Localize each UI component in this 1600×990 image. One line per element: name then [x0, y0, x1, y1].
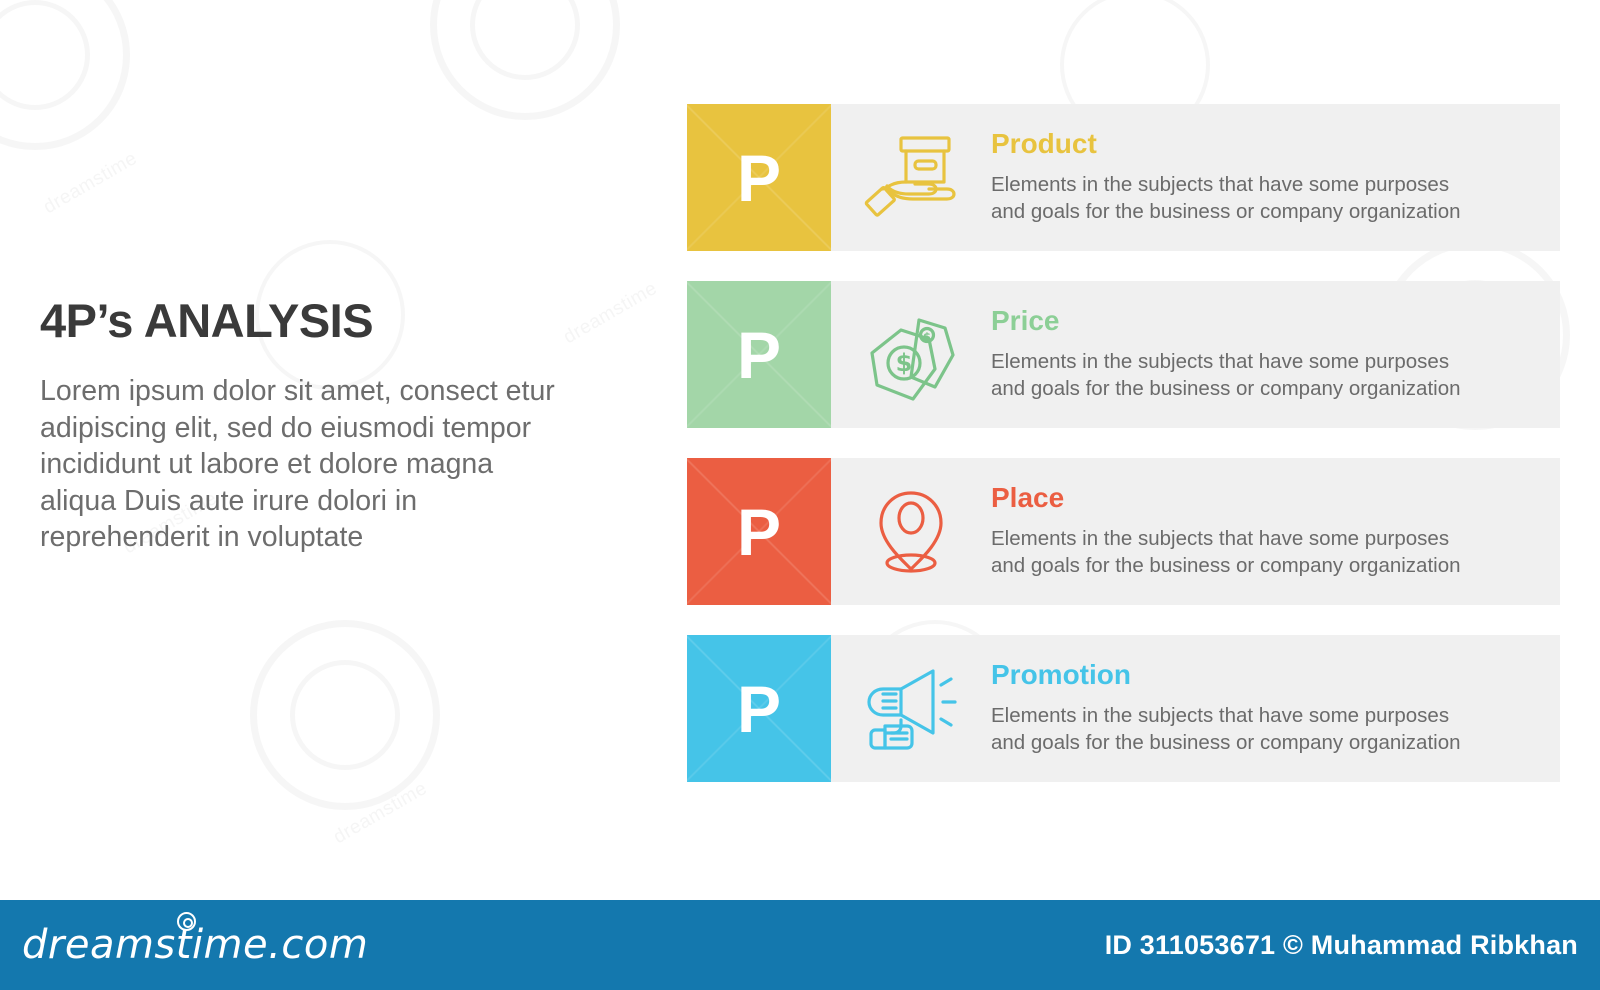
badge-product: P [687, 104, 831, 251]
intro-block: 4P’s ANALYSIS Lorem ipsum dolor sit amet… [40, 296, 600, 556]
badge-letter: P [737, 676, 781, 742]
badge-letter: P [737, 499, 781, 565]
watermark-ring [290, 660, 400, 770]
image-credit: ID 311053671 © Muhammad Ribkhan [1105, 930, 1578, 961]
watermark-ring [250, 620, 440, 810]
dreamstime-logo-text: dreamstime.com [22, 922, 368, 968]
spiral-icon [177, 912, 196, 931]
page-description: Lorem ipsum dolor sit amet, consect etur… [40, 373, 565, 555]
text-place: Place Elements in the subjects that have… [991, 458, 1560, 605]
list-item-promotion[interactable]: P P [687, 635, 1560, 782]
watermark-ring [0, 0, 130, 150]
infographic-canvas: dreamstime dreamstime dreamstime dreamst… [0, 0, 1600, 990]
list-item-place[interactable]: P Place Elements in the subjects that ha… [687, 458, 1560, 605]
row-title-promotion: Promotion [991, 660, 1536, 691]
row-description-price: Elements in the subjects that have some … [991, 348, 1536, 403]
watermark-text: dreamstime [40, 148, 141, 219]
location-pin-icon [831, 458, 991, 605]
badge-price: P [687, 281, 831, 428]
four-p-list: P Product Elements in the subjects that … [687, 104, 1560, 782]
row-title-price: Price [991, 306, 1536, 337]
text-promotion: Promotion Elements in the subjects that … [991, 635, 1560, 782]
row-description-promotion: Elements in the subjects that have some … [991, 702, 1536, 757]
hand-holding-box-icon [831, 104, 991, 251]
badge-letter: P [737, 322, 781, 388]
row-description-place: Elements in the subjects that have some … [991, 525, 1536, 580]
row-title-place: Place [991, 483, 1536, 514]
row-description-product: Elements in the subjects that have some … [991, 171, 1536, 226]
badge-letter: P [737, 145, 781, 211]
text-price: Price Elements in the subjects that have… [991, 281, 1560, 428]
badge-promotion: P [687, 635, 831, 782]
megaphone-hand-icon [831, 635, 991, 782]
dreamstime-logo: dreamstime.com [22, 925, 368, 965]
price-tags-icon: $ $ [831, 281, 991, 428]
text-product: Product Elements in the subjects that ha… [991, 104, 1560, 251]
list-item-price[interactable]: P $ $ Price Elements in the subjects tha… [687, 281, 1560, 428]
page-title: 4P’s ANALYSIS [40, 296, 600, 345]
row-title-product: Product [991, 129, 1536, 160]
badge-place: P [687, 458, 831, 605]
watermark-ring [0, 0, 90, 110]
watermark-text: dreamstime [330, 778, 431, 849]
watermark-ring [430, 0, 620, 120]
list-item-product[interactable]: P Product Elements in the subjects that … [687, 104, 1560, 251]
svg-text:$: $ [896, 349, 913, 377]
watermark-ring [470, 0, 580, 80]
stock-footer-bar: dreamstime.com ID 311053671 © Muhammad R… [0, 900, 1600, 990]
